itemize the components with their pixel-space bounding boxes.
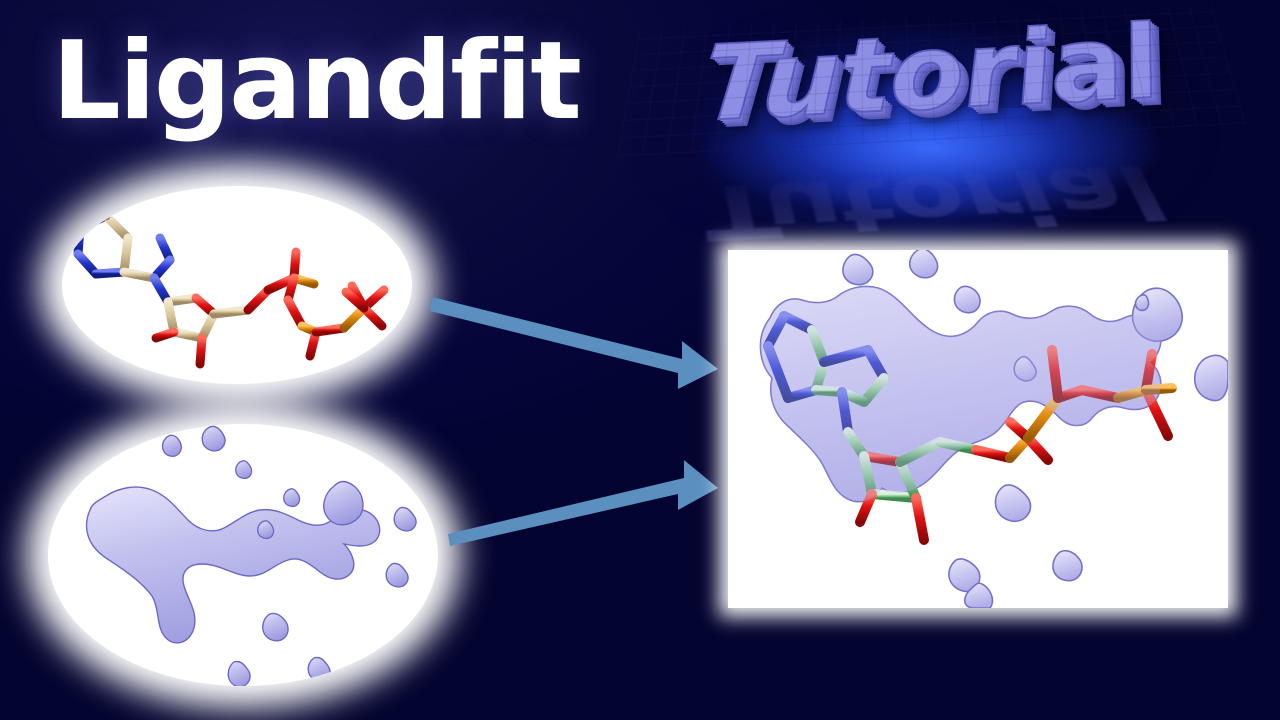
arrow-shape [448,460,718,546]
arrow-density-to-result [448,448,720,548]
electron-density-graphic [48,424,438,686]
slide-root: Ligandfit Tutorial Tutorial [0,0,1280,720]
density-map-viewport [48,424,438,686]
fitted-ligand-graphic [728,250,1228,608]
page-title: Ligandfit [52,20,580,144]
ligand-model-panel [62,186,412,384]
arrow-shape [430,297,718,389]
fitted-ligand-panel [728,250,1228,608]
density-map-panel [48,424,438,686]
arrow-ligand-to-result [430,285,720,395]
tutorial-banner: Tutorial Tutorial [632,0,1232,250]
density-overlay [760,286,1160,501]
ligand-stick-model-graphic [62,186,412,384]
ligand-model-viewport [62,186,412,384]
